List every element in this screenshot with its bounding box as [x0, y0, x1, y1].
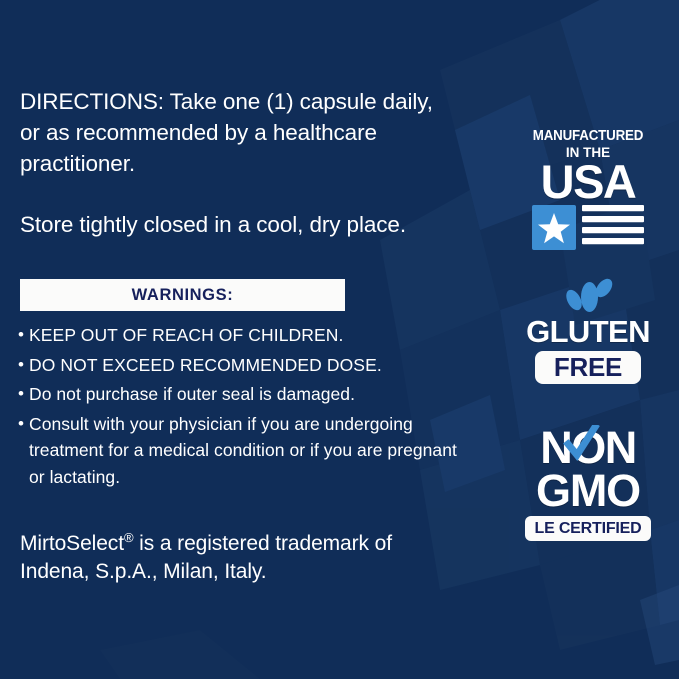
storage-line-1: Store tightly closed in a cool, dry plac…	[20, 209, 475, 240]
usa-flag-icon	[532, 205, 644, 250]
warnings-heading-box: WARNINGS:	[20, 279, 345, 311]
free-pill-box: FREE	[535, 351, 641, 384]
warning-text: Do not purchase if outer seal is damaged…	[29, 381, 468, 408]
warnings-list: • KEEP OUT OF REACH OF CHILDREN. • DO NO…	[18, 322, 468, 493]
directions-line-1: DIRECTIONS: Take one (1) capsule daily,	[20, 86, 475, 117]
trademark-line-1: MirtoSelect® is a registered trademark o…	[20, 530, 480, 558]
usa-manufactured-label: MANUFACTURED	[519, 128, 657, 144]
registered-mark-icon: ®	[124, 530, 134, 545]
bullet-icon: •	[18, 322, 29, 349]
warning-text: DO NOT EXCEED RECOMMENDED DOSE.	[29, 352, 468, 379]
warning-text: Consult with your physician if you are u…	[29, 411, 468, 491]
trademark-paragraph: MirtoSelect® is a registered trademark o…	[20, 530, 480, 586]
directions-line-2: or as recommended by a healthcare	[20, 117, 475, 148]
bullet-icon: •	[18, 381, 29, 408]
checkmark-icon	[562, 425, 600, 465]
list-item: • Consult with your physician if you are…	[18, 411, 468, 491]
label-text-column: DIRECTIONS: Take one (1) capsule daily, …	[20, 86, 475, 240]
non-gmo-badge: NON GMO LE CERTIFIED	[507, 425, 669, 541]
trademark-line-2: Indena, S.p.A., Milan, Italy.	[20, 558, 480, 586]
warnings-heading-label: WARNINGS:	[132, 286, 234, 305]
gluten-word-label: GLUTEN	[509, 315, 667, 348]
usa-word-label: USA	[513, 159, 663, 204]
list-item: • DO NOT EXCEED RECOMMENDED DOSE.	[18, 352, 468, 379]
supplement-label-panel: DIRECTIONS: Take one (1) capsule daily, …	[0, 0, 679, 679]
le-certified-label: LE CERTIFIED	[535, 520, 642, 538]
list-item: • KEEP OUT OF REACH OF CHILDREN.	[18, 322, 468, 349]
free-word-label: FREE	[554, 352, 622, 383]
wheat-leaves-icon	[560, 276, 616, 314]
trademark-line-1-rest: is a registered trademark of	[133, 532, 392, 555]
list-item: • Do not purchase if outer seal is damag…	[18, 381, 468, 408]
certification-badge-column: MANUFACTURED IN THE USA GLUTEN	[495, 0, 679, 679]
made-in-usa-badge: MANUFACTURED IN THE USA	[513, 128, 663, 250]
bullet-icon: •	[18, 411, 29, 438]
directions-paragraph: DIRECTIONS: Take one (1) capsule daily, …	[20, 86, 475, 179]
warning-text: KEEP OUT OF REACH OF CHILDREN.	[29, 322, 468, 349]
bullet-icon: •	[18, 352, 29, 379]
non-word-row: NON	[507, 425, 669, 471]
storage-paragraph: Store tightly closed in a cool, dry plac…	[20, 209, 475, 240]
le-certified-pill-box: LE CERTIFIED	[525, 516, 651, 541]
gmo-word-label: GMO	[507, 469, 669, 513]
brand-name: MirtoSelect	[20, 532, 124, 555]
directions-line-3: practitioner.	[20, 148, 475, 179]
gluten-free-badge: GLUTEN FREE	[509, 276, 667, 384]
